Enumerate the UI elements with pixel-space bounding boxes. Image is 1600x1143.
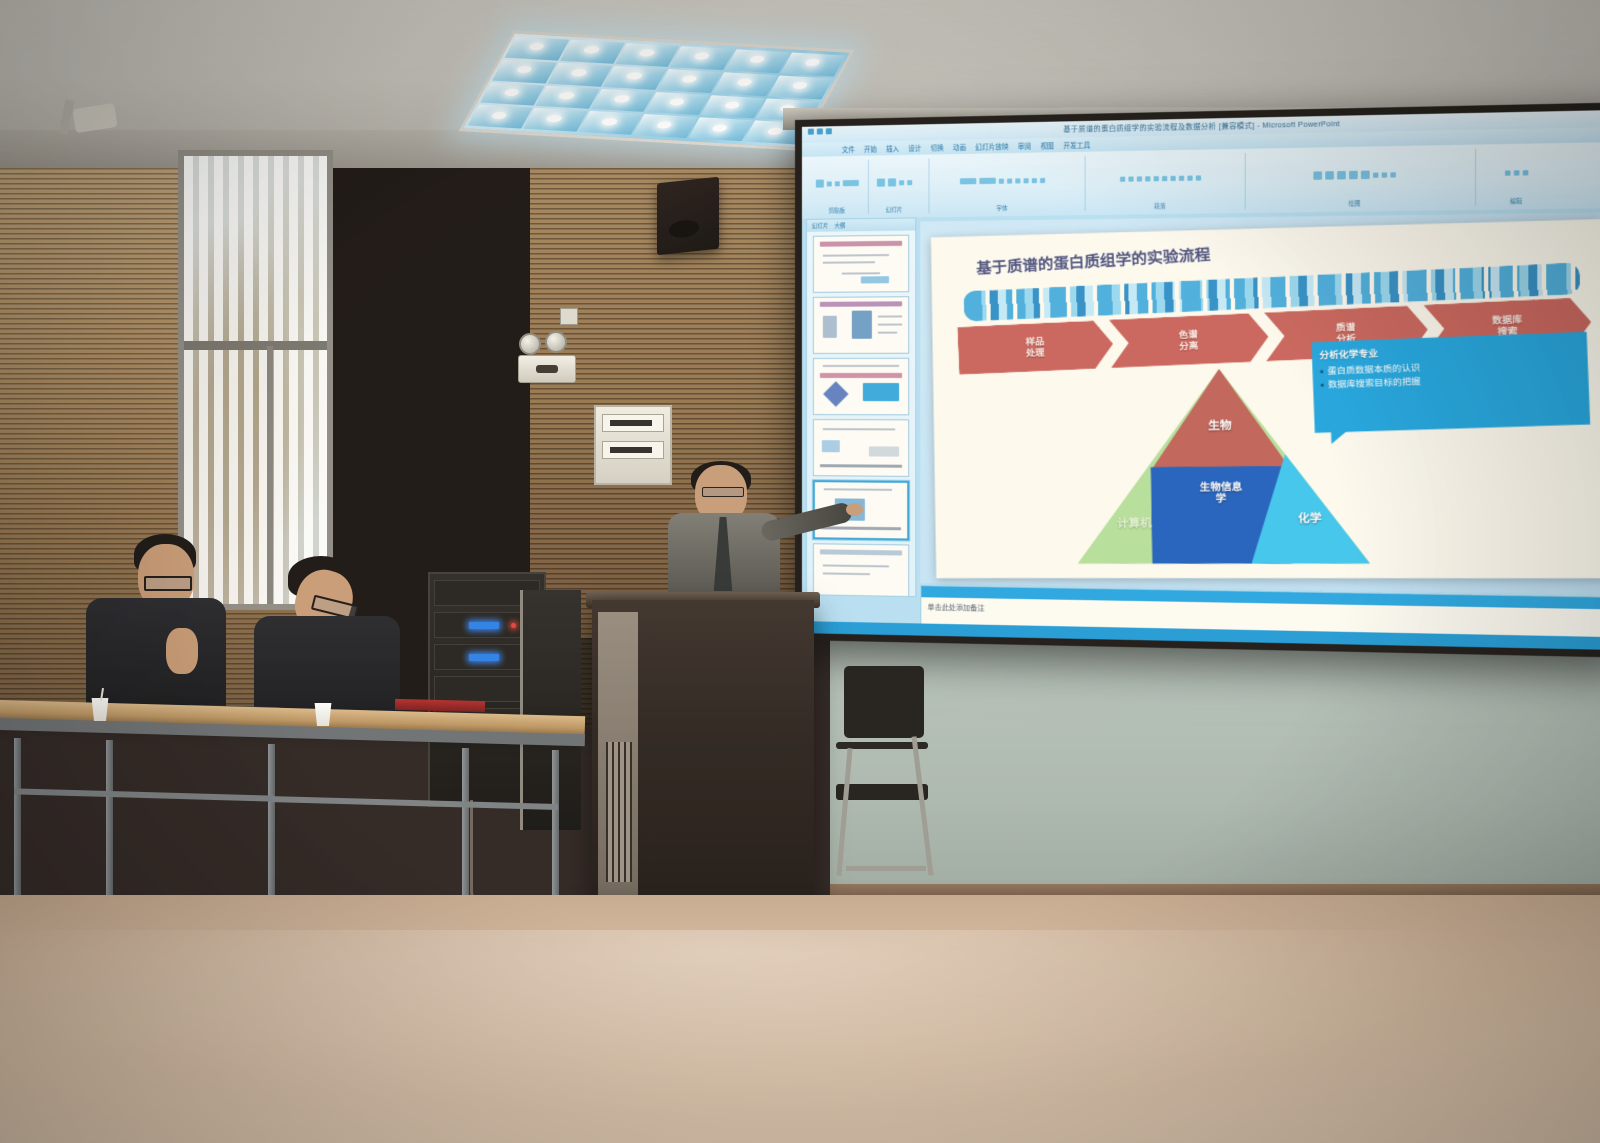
person1-glasses xyxy=(144,576,192,591)
powerpoint-window: 基于质谱的蛋白质组学的实验流程及数据分析 [兼容模式] - Microsoft … xyxy=(802,110,1600,650)
quick-access-toolbar[interactable] xyxy=(808,128,832,134)
process-step-2: 色谱 分离 xyxy=(1109,312,1270,368)
tab-animations[interactable]: 动画 xyxy=(953,142,966,152)
loudspeaker-icon xyxy=(657,177,719,256)
tab-transitions[interactable]: 切换 xyxy=(930,142,943,152)
emergency-lamp-right xyxy=(545,331,567,353)
floor-reflection xyxy=(0,930,1600,1143)
speaker-driver xyxy=(669,218,699,238)
pyramid-label-biology: 生物 xyxy=(1173,419,1267,433)
tab-view[interactable]: 视图 xyxy=(1041,140,1054,150)
ppt-workspace: 幻灯片 大纲 xyxy=(802,208,1600,650)
presenter-hand xyxy=(846,503,863,516)
thumb-tab-outline[interactable]: 大纲 xyxy=(834,221,845,229)
pyramid-label-bioinformatics: 生物信息 学 xyxy=(1163,481,1280,505)
save-icon[interactable] xyxy=(808,129,814,135)
projection-screen: 基于质谱的蛋白质组学的实验流程及数据分析 [兼容模式] - Microsoft … xyxy=(795,102,1600,658)
red-folder xyxy=(395,699,485,712)
chair-leg-right xyxy=(911,736,933,876)
tab-file[interactable]: 文件 xyxy=(842,144,855,154)
right-wall xyxy=(830,620,1600,920)
chair-foot-rail xyxy=(846,866,926,871)
tab-design[interactable]: 设计 xyxy=(908,143,921,153)
undo-icon[interactable] xyxy=(817,128,823,134)
process-step-1: 样品 处理 xyxy=(957,319,1114,374)
tab-review[interactable]: 审阅 xyxy=(1018,140,1031,150)
slide-thumbnail[interactable] xyxy=(813,235,909,293)
slide-title: 基于质谱的蛋白质组学的实验流程 xyxy=(976,243,1211,278)
ribbon-group-label: 字体 xyxy=(996,204,1007,212)
emergency-lamp-left xyxy=(519,333,541,355)
current-slide[interactable]: 基于质谱的蛋白质组学的实验流程 样品 处理 色谱 分离 质谱 分析 数据库 搜索 xyxy=(931,219,1600,578)
road-case xyxy=(520,590,581,830)
person1-clasped-hands xyxy=(166,628,198,674)
ribbon-group-editing[interactable]: 编辑 xyxy=(1466,147,1566,206)
ribbon-group-slides[interactable]: 幻灯片 xyxy=(860,159,930,215)
redo-icon[interactable] xyxy=(826,128,832,134)
window-transom xyxy=(184,341,327,350)
ribbon-group-drawing[interactable]: 绘图 xyxy=(1236,149,1476,209)
pyramid-label-computer: 计算机 xyxy=(1091,517,1178,530)
ribbon-group-font[interactable]: 字体 xyxy=(920,156,1085,214)
ribbon-group-label: 剪贴板 xyxy=(829,206,846,214)
emergency-light-icon xyxy=(518,355,576,383)
chair-backrest xyxy=(844,666,924,738)
slide-thumbnail[interactable] xyxy=(813,358,909,416)
tab-home[interactable]: 开始 xyxy=(864,143,877,153)
lectern-vent-grille xyxy=(606,742,632,882)
camera-mount xyxy=(62,100,120,140)
panel-slot-top xyxy=(602,414,664,432)
camera-icon xyxy=(72,103,117,133)
ribbon-group-label: 幻灯片 xyxy=(886,205,903,213)
ribbon-group-label: 绘图 xyxy=(1348,199,1360,208)
presenter-pointing-arm xyxy=(760,501,854,543)
presenter-glasses xyxy=(702,487,744,497)
sensor-icon xyxy=(560,308,578,325)
thumb-tab-slides[interactable]: 幻灯片 xyxy=(812,222,828,230)
seminar-room-photo: 基于质谱的蛋白质组学的实验流程及数据分析 [兼容模式] - Microsoft … xyxy=(0,0,1600,1143)
side-chair xyxy=(836,666,932,878)
tab-slideshow[interactable]: 幻灯片放映 xyxy=(975,141,1008,152)
tab-insert[interactable]: 插入 xyxy=(886,143,899,153)
ribbon-group-paragraph[interactable]: 段落 xyxy=(1076,153,1246,211)
callout-box: 分析化学专业 蛋白质数据本质的认识 数据库搜索目标的把握 xyxy=(1312,331,1591,433)
panel-slot-bottom xyxy=(602,441,664,459)
ribbon-group-label: 编辑 xyxy=(1510,197,1522,206)
tab-developer[interactable]: 开发工具 xyxy=(1063,139,1090,150)
slide-editing-area[interactable]: 基于质谱的蛋白质组学的实验流程 样品 处理 色谱 分离 质谱 分析 数据库 搜索 xyxy=(920,212,1600,594)
slide-thumbnail[interactable] xyxy=(813,296,909,354)
pyramid-label-chemistry: 化学 xyxy=(1268,512,1351,525)
ribbon-group-label: 段落 xyxy=(1154,202,1166,210)
chair-leg-left xyxy=(836,748,852,876)
thumbnail-pane-tabs[interactable]: 幻灯片 大纲 xyxy=(807,218,915,231)
chair-seat xyxy=(836,784,928,800)
